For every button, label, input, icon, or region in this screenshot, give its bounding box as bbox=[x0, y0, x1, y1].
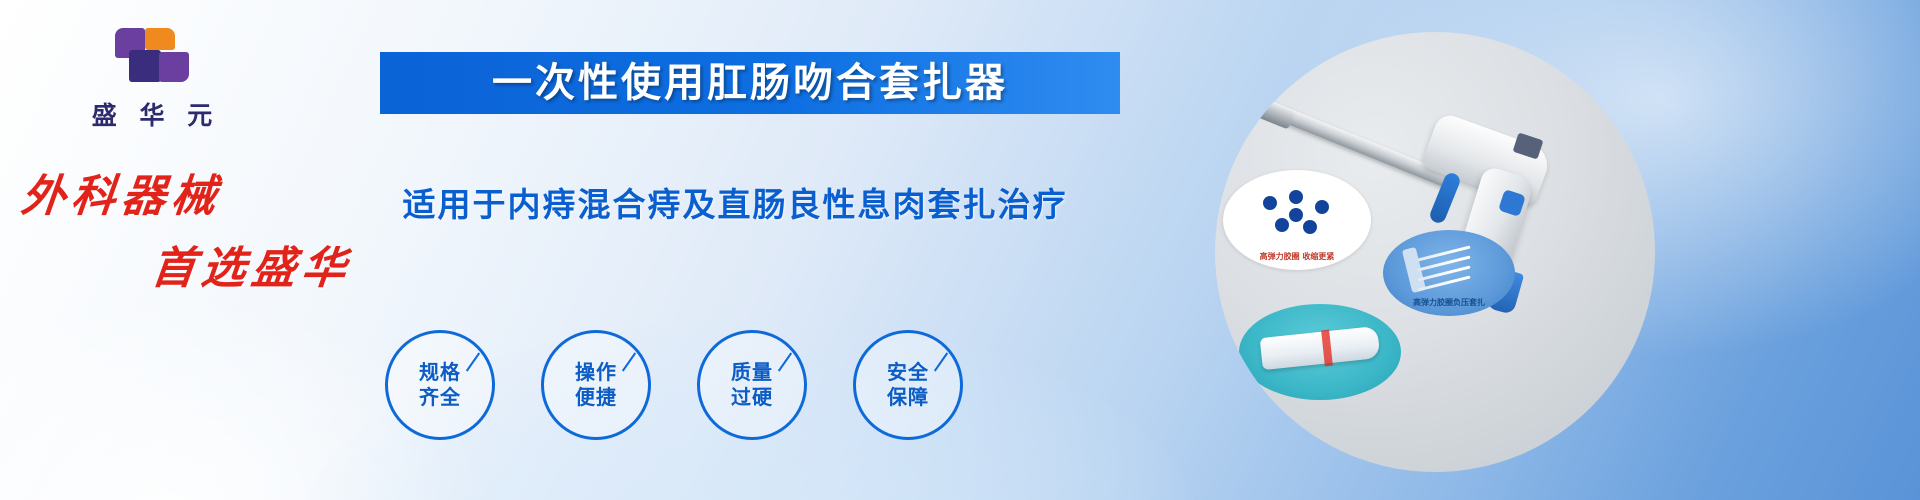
feature-circle-safety[interactable]: 安全 保障 bbox=[853, 330, 963, 440]
slogan-line-2: 首选盛华 bbox=[149, 232, 456, 296]
ring-dot bbox=[1263, 196, 1277, 210]
inset-rings-caption: 高弹力胶圈 收缩更紧 bbox=[1223, 251, 1371, 262]
feature-circle-specification[interactable]: 规格 齐全 bbox=[385, 330, 495, 440]
tube-body bbox=[1260, 326, 1381, 370]
feature-label-line1: 质量 bbox=[731, 360, 773, 385]
feature-slash-icon bbox=[778, 352, 792, 371]
feature-circle-operation[interactable]: 操作 便捷 bbox=[541, 330, 651, 440]
headline-title: 一次性使用肛肠吻合套扎器 bbox=[400, 50, 1100, 116]
feature-label-line1: 操作 bbox=[575, 360, 617, 385]
ring-dot bbox=[1289, 190, 1303, 204]
feature-circle-list: 规格 齐全 操作 便捷 质量 过硬 安全 保障 bbox=[385, 330, 963, 440]
feature-label-line1: 规格 bbox=[419, 360, 461, 385]
headline-subtitle: 适用于内痔混合痔及直肠良性息肉套扎治疗 bbox=[355, 178, 1115, 226]
inset-photo-tube bbox=[1239, 304, 1401, 400]
feature-slash-icon bbox=[934, 352, 948, 371]
promo-banner: 盛 华 元 外科器械 首选盛华 一次性使用肛肠吻合套扎器 适用于内痔混合痔及直肠… bbox=[0, 0, 1920, 500]
feature-slash-icon bbox=[622, 352, 636, 371]
inset-photo-needles: 高弹力胶圈负压套扎 bbox=[1383, 230, 1515, 316]
feature-circle-quality[interactable]: 质量 过硬 bbox=[697, 330, 807, 440]
feature-label-line2: 齐全 bbox=[419, 385, 461, 410]
feature-label-line2: 便捷 bbox=[575, 385, 617, 410]
ring-dot bbox=[1275, 218, 1289, 232]
ring-dot bbox=[1303, 220, 1317, 234]
ring-dot bbox=[1289, 208, 1303, 222]
feature-label-line2: 保障 bbox=[887, 385, 929, 410]
feature-label-line2: 过硬 bbox=[731, 385, 773, 410]
logo-square-purple-br bbox=[159, 52, 189, 82]
brand-logo[interactable]: 盛 华 元 bbox=[72, 28, 232, 132]
logo-square-orange-tr bbox=[145, 28, 175, 50]
inset-photo-rings: 高弹力胶圈 收缩更紧 bbox=[1223, 170, 1371, 270]
logo-mark-icon bbox=[115, 28, 189, 90]
product-photo: 高弹力胶圈 收缩更紧 高弹力胶圈负压套扎 bbox=[1215, 32, 1655, 472]
logo-text: 盛 华 元 bbox=[72, 96, 232, 132]
inset-needles-caption: 高弹力胶圈负压套扎 bbox=[1383, 297, 1515, 308]
ring-dot bbox=[1315, 200, 1329, 214]
logo-square-navy-center bbox=[129, 50, 161, 82]
feature-slash-icon bbox=[466, 352, 480, 371]
feature-label-line1: 安全 bbox=[887, 360, 929, 385]
